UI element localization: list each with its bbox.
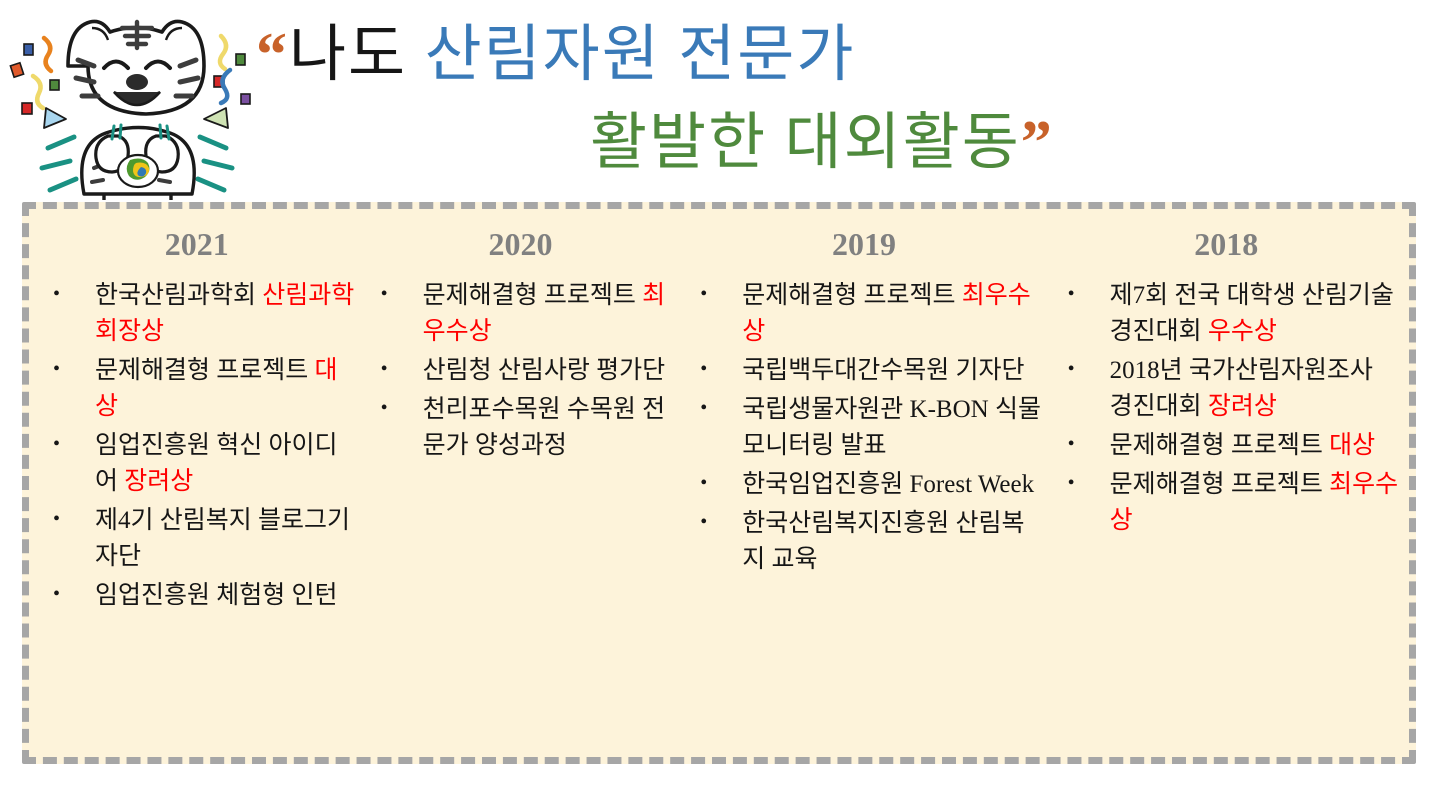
- title-line-2: 활발한 대외활동”: [590, 112, 1054, 174]
- item-text: 한국산림과학회: [95, 282, 262, 309]
- open-quote-icon: “: [256, 21, 289, 89]
- year-heading: 2019: [686, 227, 1041, 262]
- list-item: 임업진흥원 체험형 인턴: [39, 578, 355, 614]
- year-column-2018: 2018 제7회 전국 대학생 산림기술 경진대회 우수상 2018년 국가산림…: [1048, 227, 1405, 542]
- year-heading: 2021: [39, 227, 355, 262]
- list-item: 산림청 산림사랑 평가단: [367, 353, 675, 389]
- item-text: 문제해결형 프로젝트: [1110, 432, 1330, 459]
- list-item: 국립백두대간수목원 기자단: [686, 353, 1041, 389]
- item-text: 임업진흥원 체험형 인턴: [95, 582, 338, 609]
- list-item: 임업진흥원 혁신 아이디어 장려상: [39, 428, 355, 500]
- item-text: 문제해결형 프로젝트: [95, 357, 315, 384]
- item-text: 문제해결형 프로젝트: [742, 282, 962, 309]
- list-item: 문제해결형 프로젝트 대상: [1054, 428, 1399, 464]
- list-item: 문제해결형 프로젝트 대상: [39, 353, 355, 425]
- year-column-2021: 2021 한국산림과학회 산림과학회장상 문제해결형 프로젝트 대상 임업진흥원…: [33, 227, 361, 617]
- list-item: 한국산림복지진흥원 산림복지 교육: [686, 506, 1041, 578]
- achievement-list: 문제해결형 프로젝트 최우수상 국립백두대간수목원 기자단 국립생물자원관 K-…: [686, 278, 1041, 578]
- list-item: 제7회 전국 대학생 산림기술 경진대회 우수상: [1054, 278, 1399, 350]
- item-text: 천리포수목원 수목원 전문가 양성과정: [423, 396, 666, 459]
- item-text: 제4기 산림복지 블로그기자단: [95, 507, 350, 570]
- award-label: 우수상: [1208, 318, 1277, 345]
- award-label: 대상: [1329, 432, 1375, 459]
- item-text: 문제해결형 프로젝트: [423, 282, 643, 309]
- title-plain-text: 나도: [289, 21, 407, 89]
- item-text: 문제해결형 프로젝트: [1110, 471, 1330, 498]
- list-item: 한국산림과학회 산림과학회장상: [39, 278, 355, 350]
- list-item: 국립생물자원관 K-BON 식물 모니터링 발표: [686, 392, 1041, 464]
- title-line-1: “나도 산림자원 전문가: [256, 24, 855, 86]
- item-text: 국립생물자원관 K-BON 식물 모니터링 발표: [742, 396, 1041, 459]
- list-item: 천리포수목원 수목원 전문가 양성과정: [367, 392, 675, 464]
- year-columns: 2021 한국산림과학회 산림과학회장상 문제해결형 프로젝트 대상 임업진흥원…: [29, 209, 1409, 757]
- year-column-2019: 2019 문제해결형 프로젝트 최우수상 국립백두대간수목원 기자단 국립생물자…: [680, 227, 1047, 581]
- achievement-list: 한국산림과학회 산림과학회장상 문제해결형 프로젝트 대상 임업진흥원 혁신 아…: [39, 278, 355, 614]
- year-heading: 2018: [1054, 227, 1399, 262]
- celebrating-tiger-mascot-icon: [8, 8, 266, 200]
- item-text: 국립백두대간수목원 기자단: [742, 357, 1024, 384]
- close-quote-icon: ”: [1021, 109, 1054, 177]
- list-item: 문제해결형 프로젝트 최우수상: [367, 278, 675, 350]
- achievement-list: 제7회 전국 대학생 산림기술 경진대회 우수상 2018년 국가산림자원조사 …: [1054, 278, 1399, 539]
- list-item: 한국임업진흥원 Forest Week: [686, 467, 1041, 503]
- item-text: 한국임업진흥원 Forest Week: [742, 471, 1034, 498]
- award-label: 장려상: [1208, 393, 1277, 420]
- list-item: 문제해결형 프로젝트 최우수상: [686, 278, 1041, 350]
- title-subtitle-text: 활발한 대외활동: [590, 109, 1021, 177]
- year-column-2020: 2020 문제해결형 프로젝트 최우수상 산림청 산림사랑 평가단 천리포수목원…: [361, 227, 681, 467]
- title-accent-text: 산림자원 전문가: [425, 21, 856, 89]
- item-text: 한국산림복지진흥원 산림복지 교육: [742, 510, 1024, 573]
- list-item: 2018년 국가산림자원조사 경진대회 장려상: [1054, 353, 1399, 425]
- award-label: 장려상: [124, 468, 193, 495]
- title-block: “나도 산림자원 전문가 활발한 대외활동”: [250, 8, 1430, 198]
- item-text: 산림청 산림사랑 평가단: [423, 357, 666, 384]
- year-heading: 2020: [367, 227, 675, 262]
- list-item: 문제해결형 프로젝트 최우수상: [1054, 467, 1399, 539]
- achievements-panel: 2021 한국산림과학회 산림과학회장상 문제해결형 프로젝트 대상 임업진흥원…: [22, 202, 1416, 764]
- page-header: “나도 산림자원 전문가 활발한 대외활동”: [0, 0, 1438, 200]
- achievement-list: 문제해결형 프로젝트 최우수상 산림청 산림사랑 평가단 천리포수목원 수목원 …: [367, 278, 675, 464]
- list-item: 제4기 산림복지 블로그기자단: [39, 503, 355, 575]
